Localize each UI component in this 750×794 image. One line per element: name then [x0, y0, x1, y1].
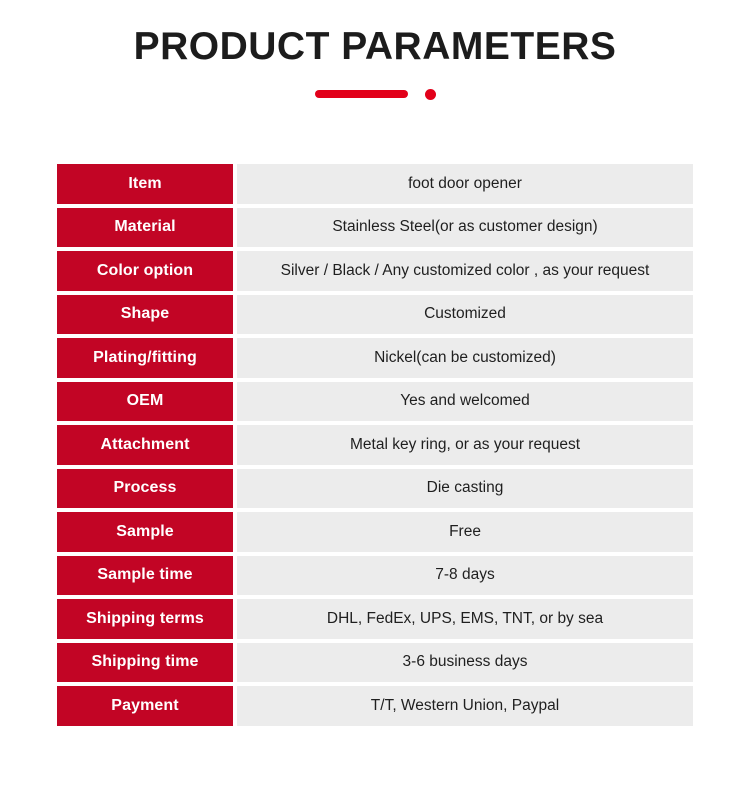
- table-row: Item foot door opener: [57, 164, 693, 204]
- spec-value: 7-8 days: [237, 556, 693, 596]
- spec-value: Customized: [237, 295, 693, 335]
- spec-label: OEM: [57, 382, 233, 422]
- spec-value: Metal key ring, or as your request: [237, 425, 693, 465]
- spec-label: Process: [57, 469, 233, 509]
- table-row: Shipping time 3-6 business days: [57, 643, 693, 683]
- table-row: Plating/fitting Nickel(can be customized…: [57, 338, 693, 378]
- table-row: Sample time 7-8 days: [57, 556, 693, 596]
- table-row: Shape Customized: [57, 295, 693, 335]
- spec-value: 3-6 business days: [237, 643, 693, 683]
- spec-value: Nickel(can be customized): [237, 338, 693, 378]
- spec-label: Item: [57, 164, 233, 204]
- spec-label: Material: [57, 208, 233, 248]
- spec-value: Yes and welcomed: [237, 382, 693, 422]
- spec-label: Color option: [57, 251, 233, 291]
- spec-value: T/T, Western Union, Paypal: [237, 686, 693, 726]
- table-row: Attachment Metal key ring, or as your re…: [57, 425, 693, 465]
- table-row: Process Die casting: [57, 469, 693, 509]
- spec-label: Sample: [57, 512, 233, 552]
- page-title: PRODUCT PARAMETERS: [0, 24, 750, 70]
- table-row: OEM Yes and welcomed: [57, 382, 693, 422]
- spec-value: Free: [237, 512, 693, 552]
- title-decoration: [0, 89, 750, 99]
- spec-value: foot door opener: [237, 164, 693, 204]
- spec-label: Sample time: [57, 556, 233, 596]
- spec-label: Shipping time: [57, 643, 233, 683]
- table-row: Payment T/T, Western Union, Paypal: [57, 686, 693, 726]
- product-parameters-page: PRODUCT PARAMETERS Item foot door opener…: [0, 0, 750, 794]
- table-row: Sample Free: [57, 512, 693, 552]
- page-header: PRODUCT PARAMETERS: [0, 0, 750, 99]
- table-row: Material Stainless Steel(or as customer …: [57, 208, 693, 248]
- spec-value: Die casting: [237, 469, 693, 509]
- spec-label: Payment: [57, 686, 233, 726]
- spec-label: Attachment: [57, 425, 233, 465]
- spec-label: Shape: [57, 295, 233, 335]
- table-row: Shipping terms DHL, FedEx, UPS, EMS, TNT…: [57, 599, 693, 639]
- spec-value: DHL, FedEx, UPS, EMS, TNT, or by sea: [237, 599, 693, 639]
- table-row: Color option Silver / Black / Any custom…: [57, 251, 693, 291]
- specification-table: Item foot door opener Material Stainless…: [57, 164, 693, 726]
- decoration-dot-icon: [425, 89, 436, 100]
- decoration-bar-icon: [315, 90, 408, 98]
- spec-value: Stainless Steel(or as customer design): [237, 208, 693, 248]
- spec-label: Shipping terms: [57, 599, 233, 639]
- spec-label: Plating/fitting: [57, 338, 233, 378]
- spec-value: Silver / Black / Any customized color , …: [237, 251, 693, 291]
